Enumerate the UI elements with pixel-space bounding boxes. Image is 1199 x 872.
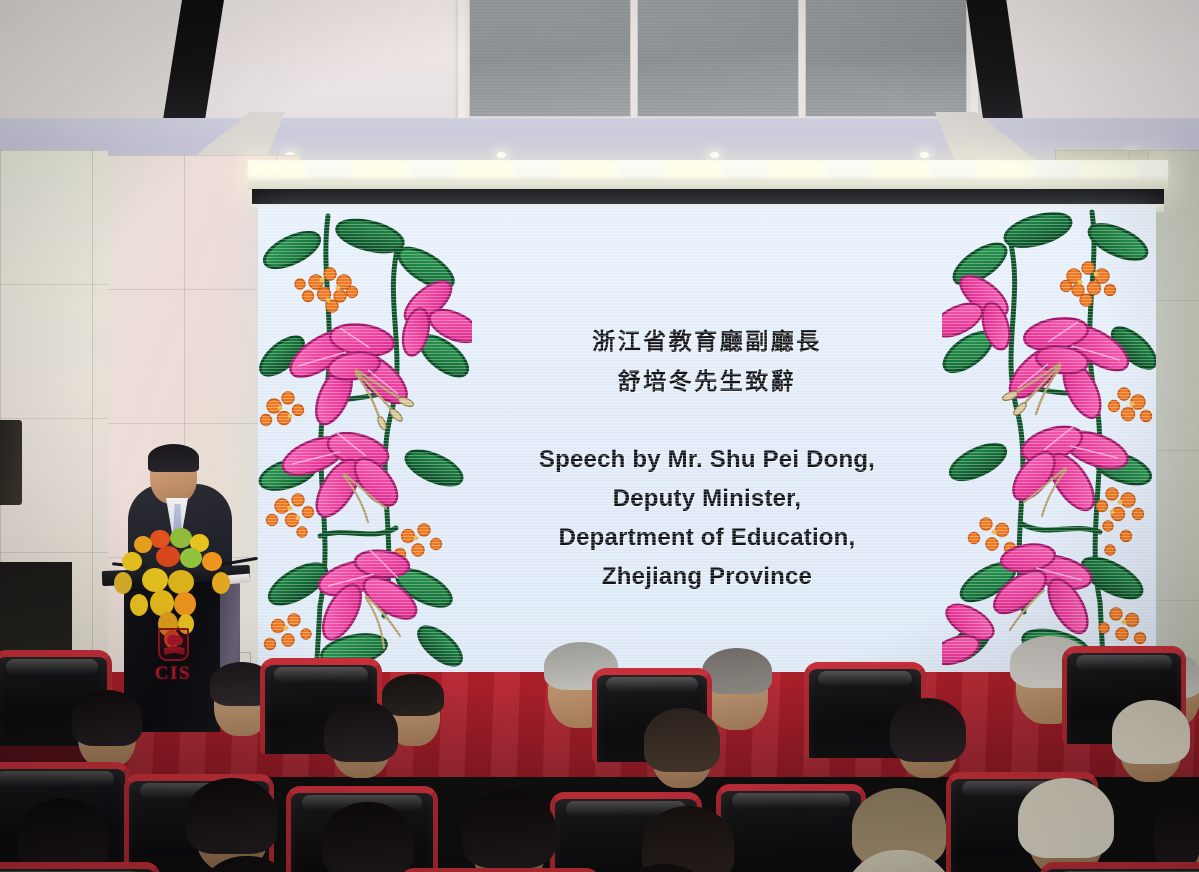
flower-bloom (170, 528, 192, 548)
stage-light-valance (248, 160, 1168, 190)
ceiling-downlight (497, 152, 506, 158)
slide-english-block: Speech by Mr. Shu Pei Dong, Deputy Minis… (539, 441, 875, 597)
audience-hair (1112, 700, 1190, 764)
osmanthus-cluster (395, 524, 442, 560)
ceiling-soffit-left (0, 0, 190, 128)
osmanthus-cluster (261, 392, 304, 426)
osmanthus-cluster (969, 518, 1016, 554)
slide-english-line-4: Zhejiang Province (539, 558, 875, 597)
flower-bloom (122, 552, 142, 571)
slide-floral-panel-right (942, 206, 1156, 678)
flower-bloom (212, 572, 230, 594)
osmanthus-cluster (1097, 488, 1144, 555)
flower-bloom (142, 568, 168, 592)
flower-bloom (168, 570, 194, 594)
grille-panel (469, 0, 631, 117)
slide-chinese-line-1: 浙江省教育廳副廳長 (592, 322, 822, 362)
audience-hair (72, 690, 142, 746)
audience-hair (890, 698, 966, 762)
auditorium-scene: 浙江省教育廳副廳長 舒培冬先生致辭 Speech by Mr. Shu Pei … (0, 0, 1199, 872)
flower-bloom (202, 552, 222, 571)
slide-chinese-line-2: 舒培冬先生致辭 (618, 362, 797, 402)
flower-bloom (180, 548, 202, 568)
audience-hair (324, 700, 398, 762)
audience-hair (644, 708, 720, 772)
flower-bloom (114, 572, 132, 594)
slide-text-block: 浙江省教育廳副廳長 舒培冬先生致辭 Speech by Mr. Shu Pei … (472, 206, 942, 678)
audience-hair (186, 778, 278, 854)
audience-hair (462, 790, 556, 868)
speaker-hair (148, 444, 199, 472)
audience-hair (382, 674, 444, 716)
audience-chair (716, 784, 866, 872)
slide-surface: 浙江省教育廳副廳長 舒培冬先生致辭 Speech by Mr. Shu Pei … (258, 206, 1156, 678)
slide-english-line-2: Deputy Minister, (539, 480, 875, 519)
ceiling-downlight (710, 152, 719, 158)
bauhinia-flower (1006, 420, 1132, 517)
flower-bloom (134, 536, 152, 553)
led-presentation-screen: 浙江省教育廳副廳長 舒培冬先生致辭 Speech by Mr. Shu Pei … (258, 206, 1156, 678)
audience-hair (322, 802, 414, 872)
grille-panel (805, 0, 967, 117)
audience-chair (400, 868, 600, 872)
osmanthus-cluster (1109, 388, 1152, 422)
audience-hair (642, 806, 734, 872)
slide-english-line-3: Department of Education, (539, 519, 875, 558)
ceiling-downlight (920, 152, 929, 158)
flower-bloom (156, 546, 180, 567)
audience-hair (1018, 778, 1114, 858)
slide-english-line-1: Speech by Mr. Shu Pei Dong, (539, 441, 875, 480)
osmanthus-cluster (1061, 262, 1116, 306)
audience-hair (702, 648, 772, 694)
floral-illustration-right-icon (942, 206, 1156, 678)
slide-floral-panel-left (258, 206, 472, 678)
osmanthus-cluster (295, 268, 358, 312)
audience-chair (0, 862, 160, 872)
wall-mounted-speaker (0, 420, 22, 505)
osmanthus-cluster (267, 494, 314, 537)
audience-area (0, 612, 1199, 872)
audience-hair (1154, 794, 1199, 868)
audience-hair (18, 798, 108, 872)
ceiling-recess-grille (458, 0, 978, 130)
floral-illustration-left-icon (258, 206, 472, 678)
grille-panel (637, 0, 799, 117)
audience-chair (1040, 862, 1199, 872)
valance-light-glow (248, 162, 1168, 178)
